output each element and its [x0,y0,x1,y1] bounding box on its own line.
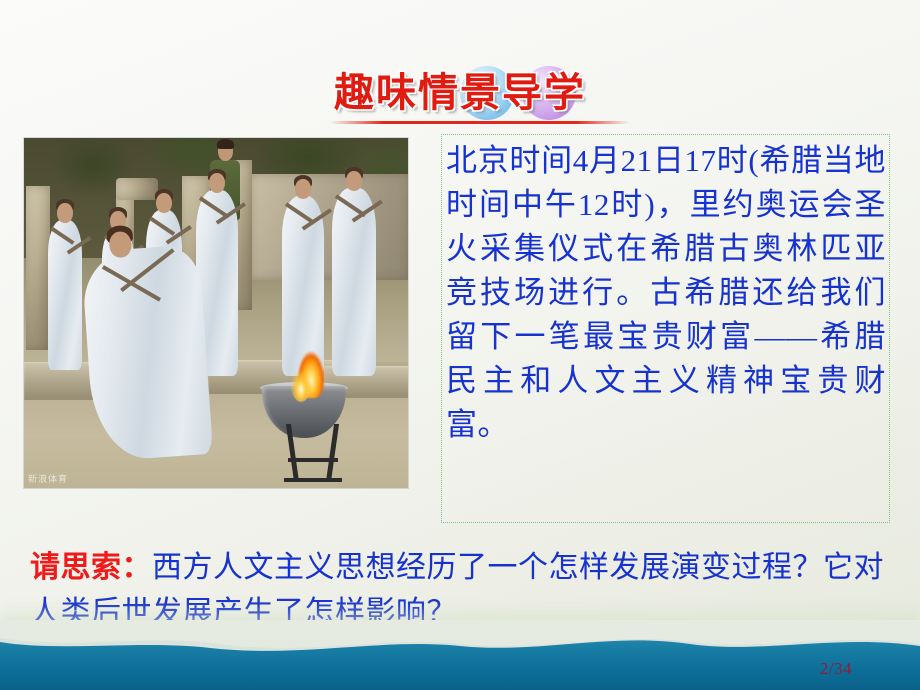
photo-watermark: 新浪体育 [28,472,68,485]
photo-tripod-stand [282,410,346,482]
title-underline-rule [330,121,630,124]
photo-attendant-hair [217,139,234,149]
photo-column-1 [26,186,50,350]
wave-shape-icon [0,620,920,690]
slide-title-banner: 趣味情景导学 [0,62,920,124]
page-number: 2/34 [820,659,852,679]
photo-priestess-1 [48,220,82,370]
question-lead-label: 请思索： [30,551,152,584]
slide-title-inner: 趣味情景导学 [334,62,586,124]
page-title: 趣味情景导学 [334,70,586,116]
bottom-wave-band: 2/34 [0,620,920,690]
photo-priestess-6 [332,188,376,376]
body-paragraph: 北京时间4月21日17时(希腊当地时间中午12时)，里约奥运会圣火采集仪式在希腊… [446,139,886,447]
photo-column-capital [116,178,158,200]
photo-olympic-flame-inner [290,360,312,402]
olympic-flame-photo: 新浪体育 [24,138,408,488]
slide-canvas: 趣味情景导学 [0,0,920,690]
photo-high-priestess [81,244,213,462]
photo-ruin-wall [250,174,408,280]
